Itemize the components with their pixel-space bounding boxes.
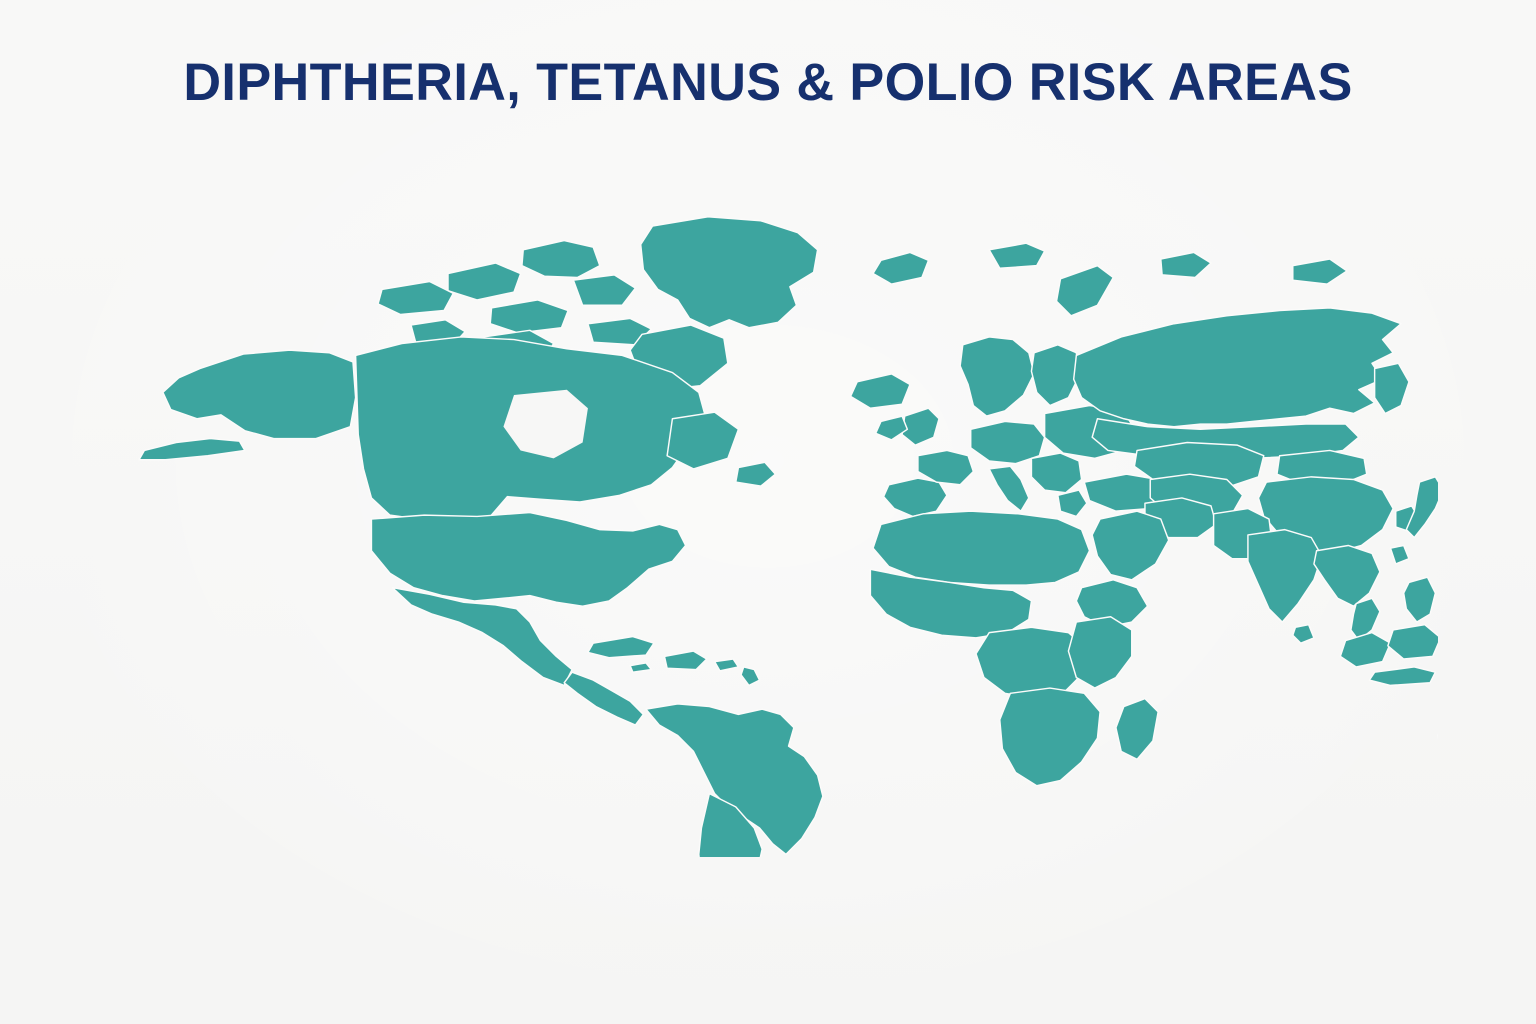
region-franz-josef <box>989 243 1044 268</box>
region-arabia <box>1092 511 1169 580</box>
region-new-siberian <box>1293 259 1347 284</box>
region-central-america <box>564 672 643 725</box>
world-map <box>118 197 1438 857</box>
region-newfoundland <box>736 462 776 486</box>
region-aleutians <box>139 439 245 460</box>
map-landmasses <box>139 217 1438 857</box>
region-arctic-islands-1 <box>522 241 600 278</box>
region-india <box>1248 530 1322 622</box>
region-ireland <box>876 416 908 440</box>
region-uk <box>902 408 939 445</box>
region-philippines <box>1404 577 1436 622</box>
region-greenland <box>641 217 818 328</box>
region-java <box>1369 667 1435 685</box>
region-greece <box>1058 490 1087 516</box>
page-title: DIPHTHERIA, TETANUS & POLIO RISK AREAS <box>12 52 1525 113</box>
region-sri-lanka <box>1293 625 1314 643</box>
region-italy <box>989 466 1029 511</box>
region-north-africa <box>873 511 1089 585</box>
region-jamaica <box>630 663 651 672</box>
region-arctic-islands-2 <box>448 263 521 300</box>
region-alaska <box>163 350 356 438</box>
region-mexico <box>393 588 573 686</box>
region-severnaya-zemlya <box>1161 252 1211 277</box>
region-arctic-islands-5 <box>573 275 635 305</box>
region-southeast-asia <box>1314 545 1380 606</box>
region-novaya-zemlya <box>1057 266 1114 316</box>
region-labrador <box>667 412 738 469</box>
region-kamchatka <box>1375 363 1409 413</box>
region-borneo <box>1388 625 1438 659</box>
region-russia <box>1074 308 1401 427</box>
region-svalbard <box>873 252 928 284</box>
region-central-africa <box>976 627 1087 698</box>
region-finland-baltic <box>1031 345 1079 406</box>
region-arctic-islands-4 <box>490 300 568 333</box>
region-lesser-antilles <box>741 667 759 685</box>
region-arctic-islands-3 <box>378 281 453 314</box>
poster-root: DIPHTHERIA, TETANUS & POLIO RISK AREAS <box>0 0 1536 1024</box>
region-taiwan <box>1390 545 1408 563</box>
region-iceland <box>851 374 910 408</box>
region-east-africa <box>1068 617 1131 688</box>
region-iberia <box>884 478 947 516</box>
region-sumatra <box>1340 633 1390 667</box>
region-cuba <box>588 637 654 658</box>
region-madagascar <box>1116 699 1158 760</box>
region-puerto-rico <box>715 659 739 671</box>
region-balkans <box>1031 453 1081 493</box>
region-hispaniola <box>664 651 706 669</box>
world-map-svg <box>118 197 1438 857</box>
region-scandinavia <box>960 337 1034 416</box>
region-southern-africa <box>1000 688 1100 786</box>
